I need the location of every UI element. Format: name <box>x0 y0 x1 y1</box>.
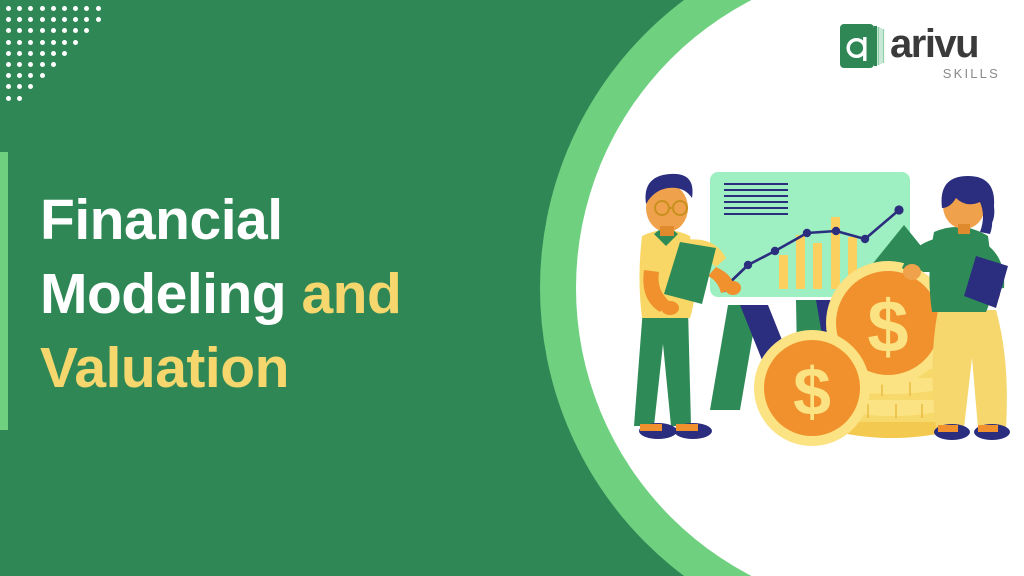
dot <box>40 73 45 78</box>
left-accent-bar <box>0 152 8 430</box>
dot <box>51 62 56 67</box>
dot <box>6 40 11 45</box>
dot <box>62 51 67 56</box>
dot <box>6 28 11 33</box>
title-line-1: Financial <box>40 183 510 257</box>
dot <box>6 17 11 22</box>
title-line-3: Valuation <box>40 331 510 405</box>
dot <box>62 40 67 45</box>
dot <box>96 6 101 11</box>
dollar-symbol-small: $ <box>793 354 831 430</box>
dot <box>51 17 56 22</box>
dot <box>17 62 22 67</box>
dot <box>17 84 22 89</box>
dot <box>40 17 45 22</box>
dot <box>40 62 45 67</box>
dot <box>28 73 33 78</box>
dot <box>6 51 11 56</box>
dot <box>62 28 67 33</box>
dot <box>17 51 22 56</box>
dot <box>6 62 11 67</box>
dot <box>73 40 78 45</box>
finance-teamwork-illustration: $ $ <box>620 160 1020 450</box>
course-banner: Financial Modeling and Valuation arivu S… <box>0 0 1024 576</box>
dot <box>28 28 33 33</box>
dot <box>17 96 22 101</box>
dot <box>28 84 33 89</box>
dot <box>62 17 67 22</box>
dot <box>84 28 89 33</box>
title-word-financial: Financial <box>40 188 283 252</box>
dollar-coin-small: $ <box>754 330 870 446</box>
dot <box>28 40 33 45</box>
dot <box>73 17 78 22</box>
title-word-valuation: Valuation <box>40 336 289 400</box>
title-word-modeling: Modeling <box>40 262 286 326</box>
dot <box>17 17 22 22</box>
dot <box>6 73 11 78</box>
dot <box>6 96 11 101</box>
dot <box>17 73 22 78</box>
dot <box>40 28 45 33</box>
dot <box>40 6 45 11</box>
dot <box>62 6 67 11</box>
dot <box>51 40 56 45</box>
arivu-book-icon <box>840 22 888 70</box>
dot <box>73 28 78 33</box>
dot <box>28 62 33 67</box>
dot <box>17 40 22 45</box>
dot <box>51 51 56 56</box>
dot <box>6 84 11 89</box>
brand-logo[interactable]: arivu SKILLS <box>840 22 1000 84</box>
dot <box>84 17 89 22</box>
title-line-2: Modeling and <box>40 257 510 331</box>
logo-subtitle: SKILLS <box>943 66 1000 81</box>
dot <box>40 51 45 56</box>
dot <box>28 17 33 22</box>
dot <box>28 6 33 11</box>
logo-wordmark: arivu <box>890 20 978 68</box>
dot <box>96 17 101 22</box>
dot <box>40 40 45 45</box>
dot <box>28 51 33 56</box>
dot <box>17 6 22 11</box>
dot <box>84 6 89 11</box>
dot <box>73 6 78 11</box>
dot <box>17 28 22 33</box>
dollar-symbol-large: $ <box>867 285 908 368</box>
page-title: Financial Modeling and Valuation <box>40 183 510 405</box>
dot <box>51 28 56 33</box>
dot <box>51 6 56 11</box>
title-word-and: and <box>301 262 401 326</box>
dot <box>6 6 11 11</box>
